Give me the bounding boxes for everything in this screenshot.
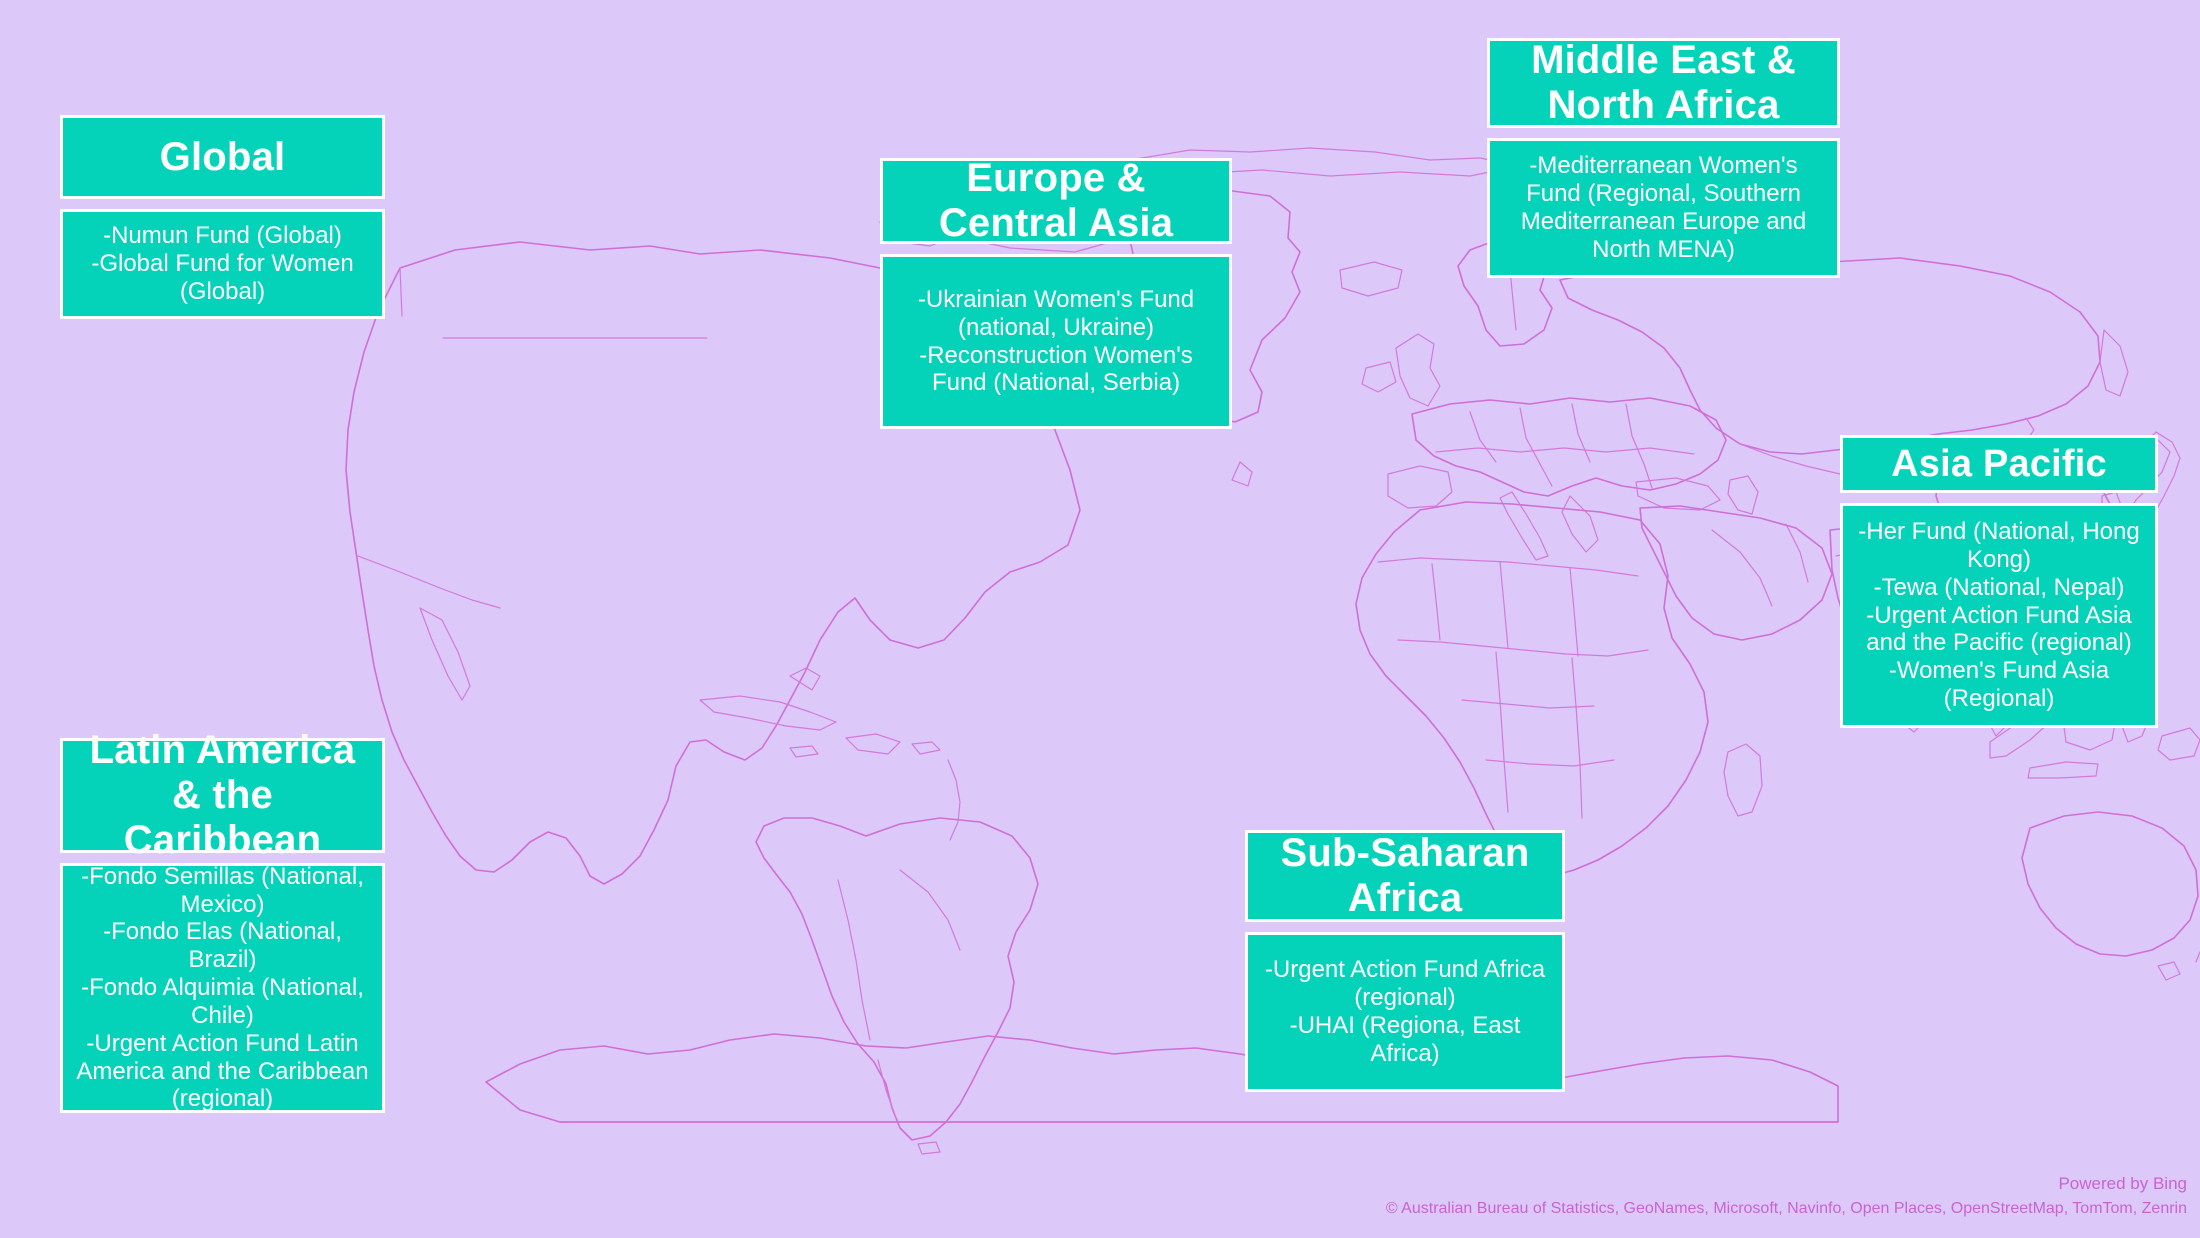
region-card-europe-central-asia-header: Europe & Central Asia xyxy=(880,158,1232,244)
south-america-outline xyxy=(756,818,1038,1140)
card-divider-gap xyxy=(60,199,385,209)
caspian-sea xyxy=(1728,476,1758,514)
region-card-global-header: Global xyxy=(60,115,385,199)
africa-border-vertical-c xyxy=(1570,568,1578,656)
region-fund-list: -Numun Fund (Global) -Global Fund for Wo… xyxy=(63,222,382,305)
africa-border-sahel xyxy=(1378,558,1638,576)
map-canvas: Global -Numun Fund (Global) -Global Fund… xyxy=(0,0,2200,1238)
great-britain-outline xyxy=(1396,334,1440,406)
region-card-sub-saharan-africa-body: -Urgent Action Fund Africa (regional) -U… xyxy=(1245,932,1565,1092)
iberia-outline xyxy=(1388,466,1452,508)
card-divider-gap xyxy=(880,244,1232,254)
kamchatka xyxy=(2100,330,2128,396)
java-outline xyxy=(2028,762,2098,778)
tierra-del-fuego xyxy=(918,1142,940,1154)
africa-border-vertical-a xyxy=(1432,564,1440,640)
map-attribution: Powered by Bing © Australian Bureau of S… xyxy=(1386,1172,2187,1220)
region-card-asia-pacific-header: Asia Pacific xyxy=(1840,435,2158,493)
arabia-border xyxy=(1712,530,1772,606)
region-fund-list: -Urgent Action Fund Africa (regional) -U… xyxy=(1248,956,1562,1067)
brazil-border xyxy=(900,870,960,950)
hispaniola-outline xyxy=(846,734,900,754)
region-fund-list: -Mediterranean Women's Fund (Regional, S… xyxy=(1490,152,1837,263)
region-fund-list: -Her Fund (National, Hong Kong) -Tewa (N… xyxy=(1843,518,2155,713)
region-card-global-body: -Numun Fund (Global) -Global Fund for Wo… xyxy=(60,209,385,319)
region-card-middle-east-north-africa-header: Middle East & North Africa xyxy=(1487,38,1840,128)
madagascar-outline xyxy=(1724,744,1762,816)
europe-internal-borders-c xyxy=(1572,404,1590,462)
card-divider-gap xyxy=(1840,493,2158,503)
region-fund-list: -Ukrainian Women's Fund (national, Ukrai… xyxy=(883,286,1229,397)
ireland-outline xyxy=(1362,362,1396,392)
card-divider-gap xyxy=(1245,922,1565,932)
russia-north-asia-outline xyxy=(1560,258,2100,454)
africa-border-equator xyxy=(1398,640,1648,656)
region-card-asia-pacific-body: -Her Fund (National, Hong Kong) -Tewa (N… xyxy=(1840,503,2158,728)
card-divider-gap xyxy=(1487,128,1840,138)
cuba-outline xyxy=(700,696,836,730)
iran-border xyxy=(1786,524,1808,582)
data-sources-label: © Australian Bureau of Statistics, GeoNa… xyxy=(1386,1197,2187,1220)
region-card-global[interactable]: Global -Numun Fund (Global) -Global Fund… xyxy=(60,115,385,319)
africa-border-vertical-b xyxy=(1500,562,1508,648)
region-title: Sub-Saharan Africa xyxy=(1248,831,1562,921)
tasmania-outline xyxy=(2158,962,2180,980)
africa-border-vertical-d xyxy=(1496,652,1508,812)
europe-internal-borders-b xyxy=(1520,408,1552,486)
region-fund-list: -Fondo Semillas (National, Mexico) -Fond… xyxy=(63,863,382,1113)
middle-east-outline xyxy=(1640,506,1832,640)
iceland-outline xyxy=(1340,262,1402,296)
region-title: Europe & Central Asia xyxy=(883,156,1229,246)
region-title: Asia Pacific xyxy=(1843,443,2155,486)
puerto-rico-outline xyxy=(912,742,940,754)
africa-border-south-a xyxy=(1462,700,1594,708)
alaska-canada-border xyxy=(400,268,402,316)
balkans-greece xyxy=(1562,496,1598,552)
andes-border xyxy=(838,880,870,1040)
region-card-middle-east-north-africa[interactable]: Middle East & North Africa -Mediterranea… xyxy=(1487,38,1840,278)
lesser-antilles xyxy=(948,760,960,840)
africa-outline xyxy=(1356,502,1708,876)
region-card-europe-central-asia[interactable]: Europe & Central Asia -Ukrainian Women's… xyxy=(880,158,1232,429)
italy-outline xyxy=(1500,492,1548,560)
region-card-latin-america-caribbean-body: -Fondo Semillas (National, Mexico) -Fond… xyxy=(60,863,385,1113)
region-title: Latin America & the Caribbean xyxy=(63,728,382,863)
africa-border-south-b xyxy=(1486,760,1614,766)
africa-border-vertical-e xyxy=(1572,658,1582,818)
baja-peninsula xyxy=(420,608,470,700)
region-title: Global xyxy=(63,135,382,180)
region-card-sub-saharan-africa-header: Sub-Saharan Africa xyxy=(1245,830,1565,922)
region-card-sub-saharan-africa[interactable]: Sub-Saharan Africa -Urgent Action Fund A… xyxy=(1245,830,1565,1092)
card-divider-gap xyxy=(60,853,385,863)
powered-by-label: Powered by Bing xyxy=(1386,1172,2187,1197)
region-card-latin-america-caribbean-header: Latin America & the Caribbean xyxy=(60,738,385,853)
europe-internal-borders-e xyxy=(1436,448,1694,454)
new-zealand-north xyxy=(2196,952,2200,962)
new-guinea-outline xyxy=(2158,728,2200,760)
region-title: Middle East & North Africa xyxy=(1490,38,1837,128)
region-card-latin-america-caribbean[interactable]: Latin America & the Caribbean -Fondo Sem… xyxy=(60,738,385,1113)
europe-internal-borders-a xyxy=(1470,412,1496,462)
greenland-inlet xyxy=(1232,462,1252,486)
europe-outline xyxy=(1412,398,1726,496)
jamaica-outline xyxy=(790,746,818,757)
antarctica-outline xyxy=(486,1034,1838,1122)
europe-internal-borders-d xyxy=(1626,404,1652,488)
region-card-asia-pacific[interactable]: Asia Pacific -Her Fund (National, Hong K… xyxy=(1840,435,2158,728)
australia-outline xyxy=(2022,812,2198,956)
region-card-middle-east-north-africa-body: -Mediterranean Women's Fund (Regional, S… xyxy=(1487,138,1840,278)
us-mexico-border xyxy=(358,556,500,608)
region-card-europe-central-asia-body: -Ukrainian Women's Fund (national, Ukrai… xyxy=(880,254,1232,429)
